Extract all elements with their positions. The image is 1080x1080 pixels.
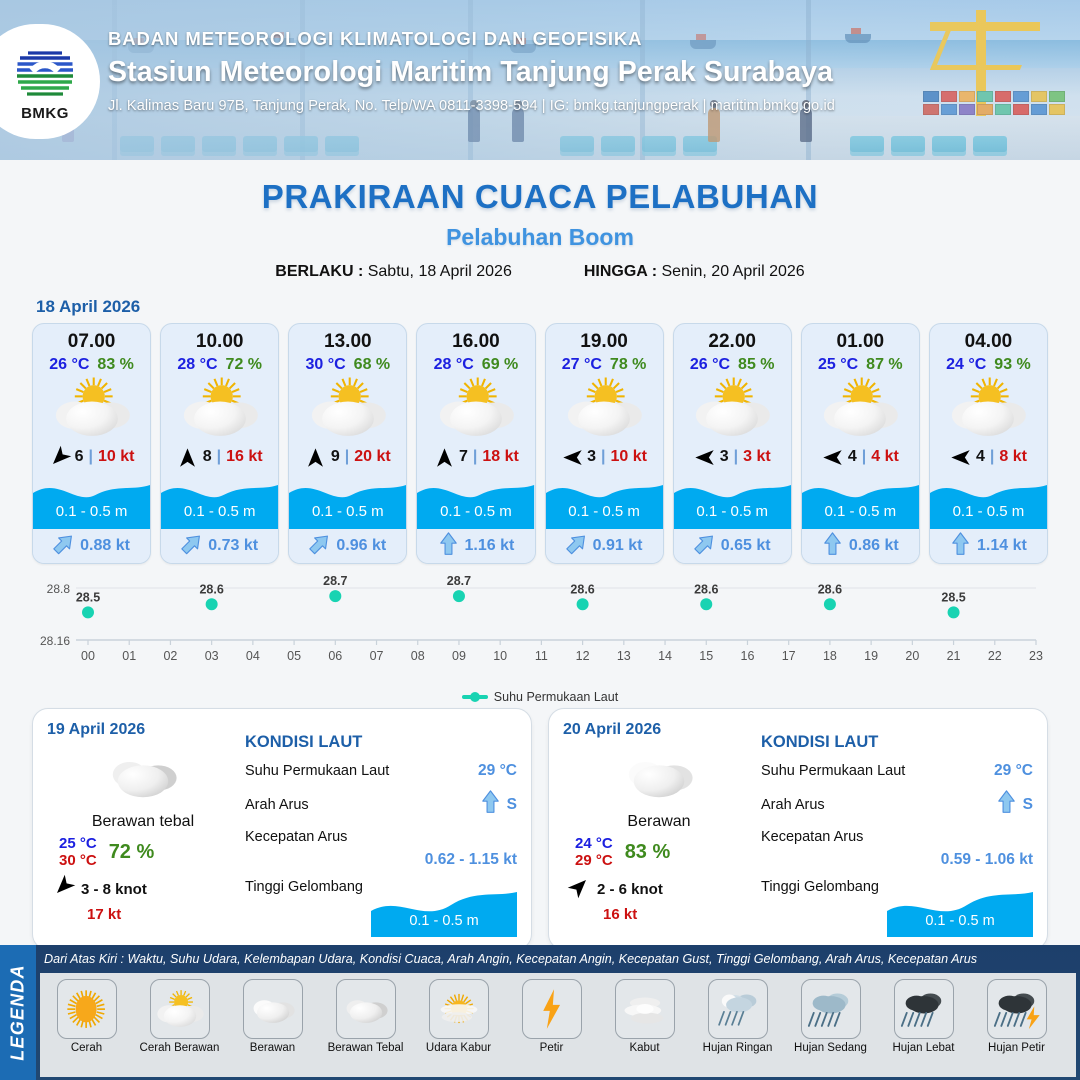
card-humidity: 78 % [610,356,646,374]
contact-line: Jl. Kalimas Baru 97B, Tanjung Perak, No.… [108,98,1038,114]
current-direction-arrow-icon [694,532,715,561]
legend-item: Cerah Berawan [133,973,226,1054]
current-direction-row: Arah Arus S [761,790,1033,819]
card-gust: 8 kt [999,448,1027,466]
legend-item: Hujan Petir [970,973,1063,1054]
current-direction-row: Arah Arus S [245,790,517,819]
svg-text:22: 22 [988,649,1002,663]
wave-label: Tinggi Gelombang [245,879,363,895]
wave-label: Tinggi Gelombang [761,879,879,895]
legend-item-label: Berawan Tebal [328,1042,404,1054]
hujan-lebat-icon [894,979,954,1039]
summary-temp-min: 24 °C [575,835,613,852]
page-header: BMKG BADAN METEOROLOGI KLIMATOLOGI DAN G… [0,0,1080,160]
current-speed-value: 0.62 - 1.15 kt [245,851,517,869]
svg-text:28.7: 28.7 [323,574,347,588]
current-speed-label: Kecepatan Arus [245,829,347,845]
svg-text:13: 13 [617,649,631,663]
title-block: PRAKIRAAN CUACA PELABUHAN Pelabuhan Boom… [0,160,1080,281]
daily-summary-panel[interactable]: 19 April 2026 Berawan tebal 25 °C 30 °C … [32,708,532,950]
divider: | [473,448,477,466]
svg-text:19: 19 [864,649,878,663]
card-values: 30 °C 68 % [289,356,406,374]
valid-to: HINGGA : Senin, 20 April 2026 [584,263,805,281]
svg-text:10: 10 [493,649,507,663]
page-subtitle: Pelabuhan Boom [0,224,1080,251]
card-wind-speed: 4 [848,448,857,466]
card-humidity: 87 % [866,356,902,374]
legend-side-label: LEGENDA [8,964,29,1060]
valid-from: BERLAKU : Sabtu, 18 April 2026 [275,263,512,281]
svg-text:04: 04 [246,649,260,663]
svg-text:06: 06 [328,649,342,663]
bmkg-logo-mark [14,42,76,104]
svg-text:08: 08 [411,649,425,663]
forecast-card[interactable]: 01.00 25 °C 87 % 4 | 4 kt 0.1 - 0.5 m [801,323,920,564]
card-gust: 20 kt [354,448,390,466]
current-direction-value: S [507,796,517,814]
legend-items: Cerah Cerah Berawan Berawan Berawan Teba… [40,973,1076,1077]
current-direction-arrow-icon [53,532,74,561]
wind-direction-arrow-icon [49,446,71,468]
current-direction-arrow-icon [566,532,587,561]
current-speed-value: 0.59 - 1.06 kt [761,851,1033,869]
svg-text:18: 18 [823,649,837,663]
summary-wind-row: 3 - 8 knot [47,876,239,902]
wind-direction-arrow-icon [822,446,844,468]
svg-text:21: 21 [947,649,961,663]
summary-humidity: 83 % [625,841,671,864]
card-wind-speed: 3 [587,448,596,466]
cerah-berawan-icon [802,375,919,441]
card-gust: 18 kt [482,448,518,466]
card-wind-row: 4 | 4 kt [802,441,919,473]
card-time: 07.00 [33,331,150,353]
summary-gust: 16 kt [563,906,755,923]
card-current-speed: 0.65 kt [721,537,771,555]
card-wind-row: 7 | 18 kt [417,441,534,473]
card-time: 10.00 [161,331,278,353]
card-current-speed: 0.96 kt [336,537,386,555]
svg-text:03: 03 [205,649,219,663]
hujan-ringan-icon [708,979,768,1039]
legend-item-label: Hujan Ringan [703,1042,773,1054]
card-temperature: 30 °C [305,356,345,374]
summary-left: 20 April 2026 Berawan 24 °C 29 °C 83 % 2… [563,721,755,939]
forecast-card[interactable]: 22.00 26 °C 85 % 3 | 3 kt 0.1 - 0.5 m [673,323,792,564]
svg-text:16: 16 [741,649,755,663]
sst-chart: 28.828.160001020304050607080910111213141… [30,574,1050,694]
berawan-tebal-icon [336,979,396,1039]
card-wave-height: 0.1 - 0.5 m [161,503,278,520]
card-current-row: 0.73 kt [161,529,278,563]
card-values: 27 °C 78 % [546,356,663,374]
card-current-row: 0.91 kt [546,529,663,563]
card-wave-height: 0.1 - 0.5 m [289,503,406,520]
card-wave: 0.1 - 0.5 m [289,475,406,529]
svg-text:14: 14 [658,649,672,663]
divider: | [734,448,738,466]
legend-item: Berawan [226,973,319,1054]
summary-temps: 25 °C 30 °C 72 % [47,835,239,869]
card-wind-speed: 7 [459,448,468,466]
svg-text:20: 20 [905,649,919,663]
card-wave-height: 0.1 - 0.5 m [930,503,1047,520]
card-time: 13.00 [289,331,406,353]
card-wind-row: 3 | 10 kt [546,441,663,473]
card-gust: 3 kt [743,448,771,466]
forecast-card[interactable]: 16.00 28 °C 69 % 7 | 18 kt 0.1 - 0.5 m [416,323,535,564]
card-current-row: 1.14 kt [930,529,1047,563]
summary-temp-max: 29 °C [575,852,613,869]
card-wind-row: 4 | 8 kt [930,441,1047,473]
current-speed-row: Kecepatan Arus [245,829,517,845]
card-time: 16.00 [417,331,534,353]
summary-condition: Berawan tebal [47,813,239,831]
svg-text:02: 02 [163,649,177,663]
forecast-card[interactable]: 07.00 26 °C 83 % 6 | 10 kt 0.1 - 0.5 m [32,323,151,564]
legend-item-label: Berawan [250,1042,295,1054]
current-direction-value: S [1023,796,1033,814]
card-time: 22.00 [674,331,791,353]
svg-text:28.6: 28.6 [818,582,842,596]
sea-conditions-title: KONDISI LAUT [245,733,517,752]
svg-text:28.6: 28.6 [694,582,718,596]
card-humidity: 83 % [97,356,133,374]
card-wave-height: 0.1 - 0.5 m [802,503,919,520]
card-humidity: 68 % [354,356,390,374]
svg-text:28.16: 28.16 [40,634,70,648]
card-wave: 0.1 - 0.5 m [802,475,919,529]
card-gust: 4 kt [871,448,899,466]
valid-to-value: Senin, 20 April 2026 [661,263,804,280]
summary-humidity: 72 % [109,841,155,864]
legend-item-label: Hujan Sedang [794,1042,867,1054]
card-current-speed: 0.91 kt [593,537,643,555]
card-wind-row: 3 | 3 kt [674,441,791,473]
svg-text:15: 15 [699,649,713,663]
legend-item-label: Hujan Petir [988,1042,1045,1054]
agency-name: BADAN METEOROLOGI KLIMATOLOGI DAN GEOFIS… [108,28,1038,50]
card-humidity: 85 % [738,356,774,374]
current-direction-arrow-icon [822,532,843,561]
card-wave: 0.1 - 0.5 m [674,475,791,529]
current-direction-label: Arah Arus [245,797,309,813]
petir-icon [522,979,582,1039]
legend-item-label: Cerah Berawan [140,1042,220,1054]
valid-to-label: HINGGA : [584,263,657,280]
current-direction-arrow-icon [480,790,501,819]
card-values: 26 °C 85 % [674,356,791,374]
card-wind-speed: 6 [75,448,84,466]
svg-text:28.5: 28.5 [76,590,100,604]
summary-date: 19 April 2026 [47,721,239,739]
card-values: 25 °C 87 % [802,356,919,374]
card-wind-speed: 3 [720,448,729,466]
card-humidity: 72 % [226,356,262,374]
legend-item-label: Petir [540,1042,564,1054]
forecast-card[interactable]: 19.00 27 °C 78 % 3 | 10 kt 0.1 - 0.5 m [545,323,664,564]
card-wave: 0.1 - 0.5 m [161,475,278,529]
current-direction-arrow-icon [181,532,202,561]
card-current-row: 0.88 kt [33,529,150,563]
wind-direction-arrow-icon [561,446,583,468]
summary-temps: 24 °C 29 °C 83 % [563,835,755,869]
legend-item: Kabut [598,973,691,1054]
card-current-speed: 0.86 kt [849,537,899,555]
legend-bar: LEGENDA Dari Atas Kiri : Waktu, Suhu Uda… [0,945,1080,1080]
berawan-icon [563,745,755,805]
svg-text:28.5: 28.5 [941,590,965,604]
valid-from-label: BERLAKU : [275,263,363,280]
summary-condition: Berawan [563,813,755,831]
sst-value: 29 °C [994,762,1033,780]
svg-text:28.8: 28.8 [47,582,71,596]
legend-item-label: Cerah [71,1042,102,1054]
card-current-speed: 1.14 kt [977,537,1027,555]
card-temperature: 28 °C [177,356,217,374]
card-current-row: 0.65 kt [674,529,791,563]
svg-text:28.7: 28.7 [447,574,471,588]
cerah-icon [57,979,117,1039]
summary-right: KONDISI LAUT Suhu Permukaan Laut 29 °C A… [239,721,517,939]
card-values: 28 °C 69 % [417,356,534,374]
hujan-sedang-icon [801,979,861,1039]
cerah-berawan-icon [150,979,210,1039]
udara-kabur-icon [429,979,489,1039]
legend-item: Udara Kabur [412,973,505,1054]
station-name: Stasiun Meteorologi Maritim Tanjung Pera… [108,56,1038,89]
card-wave-height: 0.1 - 0.5 m [546,503,663,520]
svg-text:05: 05 [287,649,301,663]
berawan-tebal-icon [47,745,239,805]
legend-item: Hujan Ringan [691,973,784,1054]
cerah-berawan-icon [674,375,791,441]
summary-left: 19 April 2026 Berawan tebal 25 °C 30 °C … [47,721,239,939]
divider: | [862,448,866,466]
legend-item: Petir [505,973,598,1054]
daily-summary-row: 19 April 2026 Berawan tebal 25 °C 30 °C … [0,704,1080,950]
card-wave-height: 0.1 - 0.5 m [417,503,534,520]
sst-label: Suhu Permukaan Laut [761,763,905,779]
card-gust: 10 kt [611,448,647,466]
divider: | [601,448,605,466]
card-current-speed: 1.16 kt [465,537,515,555]
svg-text:23: 23 [1029,649,1043,663]
forecast-card[interactable]: 13.00 30 °C 68 % 9 | 20 kt 0.1 - 0.5 m [288,323,407,564]
chart-legend-marker [462,695,488,699]
card-time: 04.00 [930,331,1047,353]
wind-direction-arrow-icon [950,446,972,468]
current-direction-label: Arah Arus [761,797,825,813]
sea-conditions-title: KONDISI LAUT [761,733,1033,752]
card-temperature: 25 °C [818,356,858,374]
validity-row: BERLAKU : Sabtu, 18 April 2026 HINGGA : … [0,263,1080,281]
card-humidity: 93 % [994,356,1030,374]
card-current-row: 1.16 kt [417,529,534,563]
card-wave: 0.1 - 0.5 m [546,475,663,529]
cerah-berawan-icon [417,375,534,441]
card-wave-height: 0.1 - 0.5 m [674,503,791,520]
sst-value: 29 °C [478,762,517,780]
current-speed-row: Kecepatan Arus [761,829,1033,845]
divider: | [89,448,93,466]
svg-text:28.6: 28.6 [570,582,594,596]
card-wind-row: 6 | 10 kt [33,441,150,473]
current-direction-arrow-icon [438,532,459,561]
card-values: 24 °C 93 % [930,356,1047,374]
legend-item: Hujan Sedang [784,973,877,1054]
legend-item: Cerah [40,973,133,1054]
hujan-petir-icon [987,979,1047,1039]
summary-wind-row: 2 - 6 knot [563,876,755,902]
card-wind-speed: 9 [331,448,340,466]
card-wave: 0.1 - 0.5 m [930,475,1047,529]
wind-direction-arrow-icon [433,446,455,468]
card-time: 19.00 [546,331,663,353]
wind-direction-arrow-icon [177,446,199,468]
wave-graphic: 0.1 - 0.5 m [887,889,1033,937]
card-wind-speed: 8 [203,448,212,466]
card-current-row: 0.86 kt [802,529,919,563]
card-wave: 0.1 - 0.5 m [417,475,534,529]
sst-row: Suhu Permukaan Laut 29 °C [761,762,1033,780]
svg-text:00: 00 [81,649,95,663]
card-temperature: 26 °C [49,356,89,374]
summary-date: 20 April 2026 [563,721,755,739]
legend-side-tab: LEGENDA [0,945,36,1080]
summary-gust: 17 kt [47,906,239,923]
summary-temp-max: 30 °C [59,852,97,869]
svg-text:28.6: 28.6 [199,582,223,596]
wind-direction-arrow-icon [694,446,716,468]
card-humidity: 69 % [482,356,518,374]
divider: | [345,448,349,466]
summary-right: KONDISI LAUT Suhu Permukaan Laut 29 °C A… [755,721,1033,939]
card-current-speed: 0.73 kt [208,537,258,555]
legend-item-label: Hujan Lebat [892,1042,954,1054]
wave-value: 0.1 - 0.5 m [371,913,517,929]
page-title: PRAKIRAAN CUACA PELABUHAN [0,178,1080,216]
card-temperature: 24 °C [946,356,986,374]
forecast-date-label: 18 April 2026 [36,297,1080,317]
legend-note: Dari Atas Kiri : Waktu, Suhu Udara, Kele… [44,952,1072,966]
current-direction-arrow-icon [309,532,330,561]
kabut-icon [615,979,675,1039]
wind-direction-arrow-icon [305,446,327,468]
cerah-berawan-icon [161,375,278,441]
card-time: 01.00 [802,331,919,353]
summary-temp-min: 25 °C [59,835,97,852]
divider: | [217,448,221,466]
legend-item: Berawan Tebal [319,973,412,1054]
forecast-card-row: 07.00 26 °C 83 % 6 | 10 kt 0.1 - 0.5 m [0,323,1080,564]
current-speed-label: Kecepatan Arus [761,829,863,845]
bmkg-logo-text: BMKG [21,105,69,122]
current-direction-arrow-icon [950,532,971,561]
card-current-speed: 0.88 kt [80,537,130,555]
card-temperature: 26 °C [690,356,730,374]
card-wind-row: 8 | 16 kt [161,441,278,473]
card-temperature: 27 °C [562,356,602,374]
svg-text:07: 07 [370,649,384,663]
card-wind-row: 9 | 20 kt [289,441,406,473]
svg-text:01: 01 [122,649,136,663]
sst-row: Suhu Permukaan Laut 29 °C [245,762,517,780]
cerah-berawan-icon [930,375,1047,441]
card-gust: 10 kt [98,448,134,466]
svg-text:12: 12 [576,649,590,663]
svg-text:11: 11 [535,649,548,663]
berawan-icon [243,979,303,1039]
cerah-berawan-icon [33,375,150,441]
daily-summary-panel[interactable]: 20 April 2026 Berawan 24 °C 29 °C 83 % 2… [548,708,1048,950]
legend-item: Hujan Lebat [877,973,970,1054]
card-wave: 0.1 - 0.5 m [33,475,150,529]
valid-from-value: Sabtu, 18 April 2026 [368,263,512,280]
summary-wind-range: 3 - 8 knot [81,881,147,898]
summary-wind-range: 2 - 6 knot [597,881,663,898]
svg-text:09: 09 [452,649,466,663]
card-wind-speed: 4 [976,448,985,466]
wave-value: 0.1 - 0.5 m [887,913,1033,929]
card-values: 26 °C 83 % [33,356,150,374]
card-wave-height: 0.1 - 0.5 m [33,503,150,520]
cerah-berawan-icon [546,375,663,441]
card-gust: 16 kt [226,448,262,466]
wind-direction-arrow-icon [53,876,74,902]
forecast-card[interactable]: 04.00 24 °C 93 % 4 | 8 kt 0.1 - 0.5 m [929,323,1048,564]
current-direction-arrow-icon [996,790,1017,819]
divider: | [990,448,994,466]
card-values: 28 °C 72 % [161,356,278,374]
wave-graphic: 0.1 - 0.5 m [371,889,517,937]
card-temperature: 28 °C [434,356,474,374]
forecast-card[interactable]: 10.00 28 °C 72 % 8 | 16 kt 0.1 - 0.5 m [160,323,279,564]
sst-label: Suhu Permukaan Laut [245,763,389,779]
legend-item-label: Kabut [629,1042,659,1054]
legend-item-label: Udara Kabur [426,1042,491,1054]
wind-direction-arrow-icon [569,876,590,902]
svg-text:17: 17 [782,649,796,663]
header-text-block: BADAN METEOROLOGI KLIMATOLOGI DAN GEOFIS… [108,28,1038,114]
cerah-berawan-icon [289,375,406,441]
card-current-row: 0.96 kt [289,529,406,563]
